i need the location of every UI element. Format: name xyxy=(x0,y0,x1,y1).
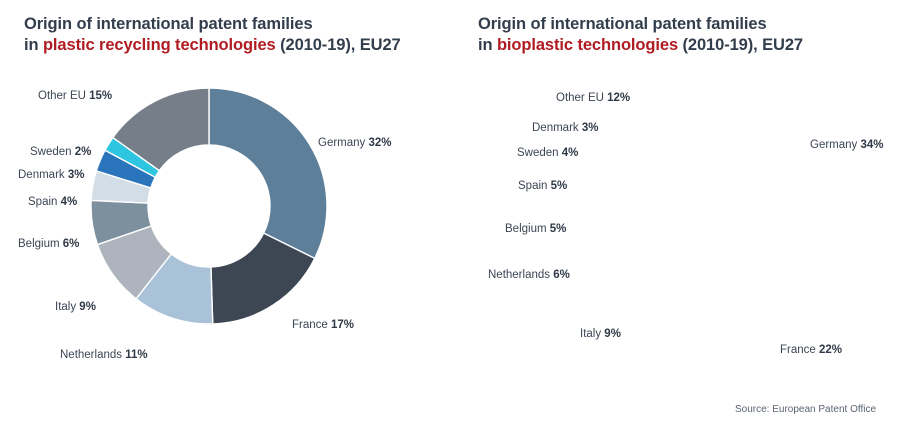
slice-label-value: 6% xyxy=(553,269,570,281)
title-line-2-prefix: in xyxy=(478,36,497,54)
slice-label-value: 34% xyxy=(861,139,884,151)
slice-label-country: Italy xyxy=(580,328,604,340)
slice-label-country: France xyxy=(780,344,819,356)
slice-label-italy: Italy 9% xyxy=(55,301,96,314)
donut-svg-plastic-recycling: Germany 32%France 17%Netherlands 11%Ital… xyxy=(89,86,329,326)
slice-label-belgium: Belgium 6% xyxy=(18,238,79,251)
slice-label-italy: Italy 9% xyxy=(580,328,621,341)
slice-label-value: 4% xyxy=(562,147,579,159)
slice-label-country: Belgium xyxy=(18,238,63,250)
slice-label-country: Denmark xyxy=(18,169,68,181)
source-note: Source: European Patent Office xyxy=(735,404,876,415)
slice-label-value: 22% xyxy=(819,344,842,356)
slice-label-country: Netherlands xyxy=(60,349,125,361)
slice-label-sweden: Sweden 4% xyxy=(517,147,578,160)
slice-label-spain: Spain 5% xyxy=(518,180,567,193)
slice-label-denmark: Denmark 3% xyxy=(18,169,84,182)
slice-label-germany: Germany 32% xyxy=(318,137,392,150)
slice-label-value: 9% xyxy=(604,328,621,340)
slice-label-france: France 22% xyxy=(780,344,842,357)
title-line-2-suffix: (2010-19), EU27 xyxy=(678,36,803,54)
slice-label-country: Other EU xyxy=(556,92,607,104)
slice-label-value: 4% xyxy=(61,196,78,208)
pie-slice-germany[interactable]: Germany 32% xyxy=(209,88,327,258)
title-line-2-suffix: (2010-19), EU27 xyxy=(276,36,401,54)
slice-label-sweden: Sweden 2% xyxy=(30,146,91,159)
chart-title-bioplastic: Origin of international patent families … xyxy=(478,14,803,56)
slice-label-country: Germany xyxy=(810,139,861,151)
slice-label-country: Netherlands xyxy=(488,269,553,281)
slice-label-france: France 17% xyxy=(292,319,354,332)
slice-label-country: Belgium xyxy=(505,223,550,235)
slice-label-country: France xyxy=(292,319,331,331)
slice-label-value: 32% xyxy=(369,137,392,149)
chart-title-plastic-recycling: Origin of international patent families … xyxy=(24,14,401,56)
slice-label-value: 5% xyxy=(551,180,568,192)
slice-label-value: 6% xyxy=(63,238,80,250)
slice-label-value: 9% xyxy=(79,301,96,313)
title-line-2-prefix: in xyxy=(24,36,43,54)
slice-label-country: Germany xyxy=(318,137,369,149)
slice-label-country: Denmark xyxy=(532,122,582,134)
title-line-1: Origin of international patent families xyxy=(478,15,767,33)
donut-chart-plastic-recycling: Germany 32%France 17%Netherlands 11%Ital… xyxy=(89,86,329,326)
slice-label-value: 12% xyxy=(607,92,630,104)
slice-label-value: 5% xyxy=(550,223,567,235)
slice-label-value: 2% xyxy=(75,146,92,158)
slice-label-spain: Spain 4% xyxy=(28,196,77,209)
slice-label-value: 11% xyxy=(125,349,147,361)
slice-label-belgium: Belgium 5% xyxy=(505,223,566,236)
slice-label-other-eu: Other EU 12% xyxy=(556,92,630,105)
slice-label-value: 17% xyxy=(331,319,354,331)
slice-label-country: Spain xyxy=(28,196,61,208)
slice-label-other-eu: Other EU 15% xyxy=(38,90,112,103)
slice-label-netherlands: Netherlands 11% xyxy=(60,349,148,362)
slice-label-country: Spain xyxy=(518,180,551,192)
slice-label-denmark: Denmark 3% xyxy=(532,122,598,135)
title-line-2-accent: plastic recycling technologies xyxy=(43,36,276,54)
slice-label-netherlands: Netherlands 6% xyxy=(488,269,570,282)
slice-label-country: Sweden xyxy=(30,146,75,158)
slice-label-value: 15% xyxy=(89,90,112,102)
slice-label-germany: Germany 34% xyxy=(810,139,884,152)
panel-bioplastic: Origin of international patent families … xyxy=(450,0,900,442)
slice-label-value: 3% xyxy=(68,169,85,181)
slice-label-country: Italy xyxy=(55,301,79,313)
slice-label-country: Sweden xyxy=(517,147,562,159)
panel-plastic-recycling: Origin of international patent families … xyxy=(0,0,450,442)
slice-label-value: 3% xyxy=(582,122,599,134)
title-line-2-accent: bioplastic technologies xyxy=(497,36,678,54)
slice-label-country: Other EU xyxy=(38,90,89,102)
title-line-1: Origin of international patent families xyxy=(24,15,313,33)
